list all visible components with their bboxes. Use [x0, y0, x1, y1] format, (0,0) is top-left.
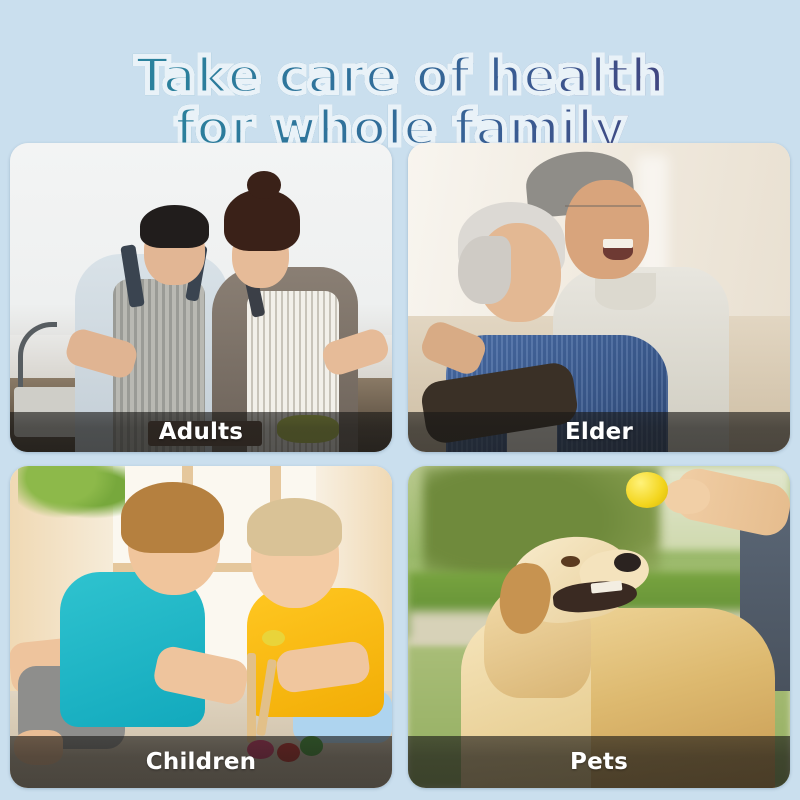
page-title-line-1: Take care of health [0, 50, 800, 102]
pets-caption-bar: Pets [408, 736, 790, 788]
category-card-elder[interactable]: Elder [408, 143, 790, 452]
boy-yellow-hair [247, 498, 343, 556]
elder-photo [408, 143, 790, 452]
pets-caption-label: Pets [570, 749, 628, 775]
elder-woman-hair-side [458, 236, 511, 304]
page-title: Take care of health for whole family [0, 50, 800, 154]
elder-man-face [565, 180, 649, 279]
children-caption-bar: Children [10, 736, 392, 788]
adults-caption-label: Adults [159, 419, 243, 445]
houseplant [18, 466, 125, 524]
category-card-children[interactable]: Children [10, 466, 392, 788]
elder-man-teeth [603, 239, 634, 248]
woman-hair-bun [247, 171, 281, 199]
category-card-adults[interactable]: Adults [10, 143, 392, 452]
woman-hair [224, 189, 300, 251]
boy-teal-hair [121, 482, 224, 553]
wooden-peg-toy-1 [247, 653, 256, 743]
adults-photo [10, 143, 392, 452]
child-hand [664, 479, 710, 514]
elder-caption-bar: Elder [408, 412, 790, 452]
promo-poster: Take care of health for whole family [0, 0, 800, 800]
adults-caption-bar: Adults [10, 412, 392, 452]
tennis-ball-icon [626, 472, 668, 507]
category-card-pets[interactable]: Pets [408, 466, 790, 788]
man-hair [140, 205, 209, 248]
faucet-icon [18, 322, 57, 395]
category-card-grid: Adults [10, 143, 790, 788]
elder-caption-label: Elder [565, 419, 633, 445]
children-caption-label: Children [146, 749, 256, 775]
eyeglasses-icon [565, 205, 641, 219]
